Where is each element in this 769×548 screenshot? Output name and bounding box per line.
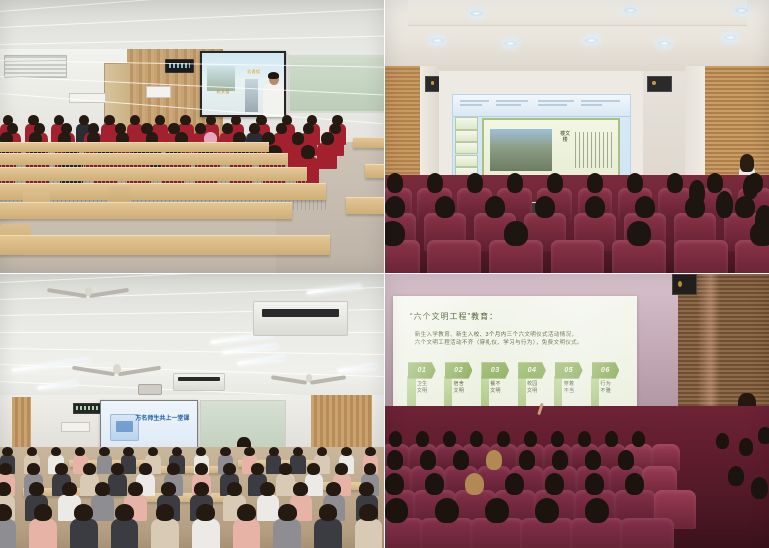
slide-title-left: 机关楼 bbox=[217, 89, 231, 95]
ceiling-fan bbox=[65, 279, 111, 306]
audience-head bbox=[552, 450, 568, 469]
audience-head bbox=[385, 473, 404, 495]
wall-sign-2 bbox=[146, 86, 171, 98]
empty-desk bbox=[0, 202, 292, 219]
auditorium-seat bbox=[674, 240, 728, 273]
side-desk bbox=[353, 137, 384, 149]
auditorium-seat bbox=[620, 518, 674, 548]
attendee bbox=[0, 504, 16, 548]
desk-row bbox=[0, 142, 269, 152]
attendee bbox=[70, 504, 98, 548]
audience-head bbox=[470, 431, 483, 447]
audience-head bbox=[587, 173, 603, 192]
audience-head bbox=[707, 173, 723, 192]
audience-head bbox=[524, 431, 537, 447]
slide-tower-photo bbox=[245, 79, 258, 112]
attendee bbox=[192, 504, 220, 548]
panel-top-right: 楼文楼 bbox=[385, 0, 769, 273]
audience-head bbox=[625, 473, 644, 495]
audience-head bbox=[551, 431, 564, 447]
audience-head bbox=[689, 180, 704, 205]
audience-head bbox=[618, 450, 634, 469]
attendee bbox=[111, 504, 139, 548]
ac-unit-1 bbox=[253, 301, 347, 336]
slide-building-image bbox=[490, 129, 552, 171]
audience-head bbox=[728, 466, 744, 487]
audience-head bbox=[585, 473, 604, 495]
wall-sign bbox=[61, 422, 90, 432]
audience-head bbox=[465, 473, 484, 495]
presenter-hair bbox=[740, 154, 755, 172]
attendee bbox=[314, 504, 342, 548]
powerpoint-ribbon bbox=[453, 95, 630, 116]
audience-head bbox=[389, 431, 402, 447]
wood-wall-left bbox=[12, 397, 31, 446]
audience-head bbox=[385, 196, 405, 218]
audience-head bbox=[519, 450, 535, 469]
audience-head bbox=[485, 196, 505, 218]
audience-head bbox=[387, 450, 403, 469]
presenter bbox=[263, 74, 284, 118]
audience-head bbox=[751, 477, 768, 499]
wall-clock-display bbox=[165, 59, 194, 73]
speaker-right bbox=[647, 76, 672, 92]
audience-head bbox=[743, 175, 758, 200]
audience-head bbox=[605, 431, 618, 447]
audience-head bbox=[716, 191, 733, 218]
attendee bbox=[29, 504, 57, 548]
audience-head bbox=[758, 427, 769, 443]
panel-bottom-right: “六个文明工程”教育： 新生入学教育、新生入校、3个月内三个六文明仪式活动情况，… bbox=[385, 274, 769, 548]
slide-vertical-text-block bbox=[575, 132, 613, 168]
presenter-hair bbox=[268, 72, 280, 79]
audience-head bbox=[716, 433, 729, 449]
chalkboard bbox=[288, 55, 384, 114]
audience-head bbox=[739, 438, 753, 456]
photo-collage: 机遇楼 机关楼 bbox=[0, 0, 769, 547]
audience-head bbox=[632, 431, 645, 447]
audience-head bbox=[535, 498, 559, 523]
audience-head bbox=[387, 173, 403, 192]
ceiling-coffer bbox=[408, 0, 747, 26]
exit-sign bbox=[73, 403, 102, 414]
audience-head bbox=[425, 473, 444, 495]
ceiling-projector bbox=[138, 384, 162, 395]
audience-head bbox=[416, 431, 429, 447]
audience-head bbox=[635, 196, 655, 218]
audience-head bbox=[627, 173, 643, 192]
slide-title-right: 机遇楼 bbox=[247, 69, 261, 75]
audience-head bbox=[497, 431, 510, 447]
audience-head bbox=[486, 450, 502, 469]
speaker bbox=[672, 274, 697, 295]
audience-head bbox=[467, 173, 483, 192]
audience-head bbox=[585, 498, 609, 523]
audience-head bbox=[385, 498, 408, 523]
audience-head bbox=[420, 450, 436, 469]
attendee bbox=[151, 504, 179, 548]
audience-head bbox=[385, 221, 405, 246]
ceiling-fan bbox=[92, 356, 142, 386]
audience-head bbox=[443, 431, 456, 447]
desk-row bbox=[0, 167, 307, 182]
attendee bbox=[273, 504, 301, 548]
side-desk bbox=[346, 197, 384, 214]
attendee bbox=[355, 504, 383, 548]
empty-desk bbox=[0, 235, 330, 255]
slide-title: 万名师生共上一堂课 bbox=[135, 415, 189, 423]
ceiling-spotlight bbox=[470, 11, 483, 16]
audience-head bbox=[545, 473, 564, 495]
audience-head bbox=[453, 450, 469, 469]
audience-head bbox=[547, 173, 563, 192]
wall-vent bbox=[4, 55, 67, 79]
audience-head bbox=[535, 196, 555, 218]
audience-head bbox=[505, 473, 524, 495]
audience-head bbox=[427, 173, 443, 192]
audience-head bbox=[667, 173, 683, 192]
audience-head bbox=[585, 450, 601, 469]
attendee bbox=[233, 504, 261, 548]
desk-row bbox=[0, 153, 288, 165]
panel-bottom-left: 万名师生共上一堂课 bbox=[0, 274, 384, 548]
auditorium-seat bbox=[551, 240, 605, 273]
audience-head bbox=[585, 196, 605, 218]
audience-head bbox=[435, 196, 455, 218]
audience-head bbox=[627, 221, 652, 246]
slide-vertical-title: 楼文楼 bbox=[559, 131, 571, 143]
audience-head bbox=[435, 498, 459, 523]
audience-head bbox=[507, 173, 523, 192]
audience-head bbox=[755, 205, 769, 235]
ac-unit-2 bbox=[173, 373, 225, 391]
audience-head bbox=[735, 196, 755, 218]
audience-head bbox=[504, 221, 529, 246]
ceiling-fan bbox=[288, 367, 330, 392]
audience-head bbox=[578, 431, 591, 447]
auditorium-seat bbox=[427, 240, 481, 273]
audience-head bbox=[485, 498, 509, 523]
panel-top-left: 机遇楼 机关楼 bbox=[0, 0, 384, 273]
side-desk bbox=[365, 164, 384, 179]
student bbox=[317, 132, 337, 169]
